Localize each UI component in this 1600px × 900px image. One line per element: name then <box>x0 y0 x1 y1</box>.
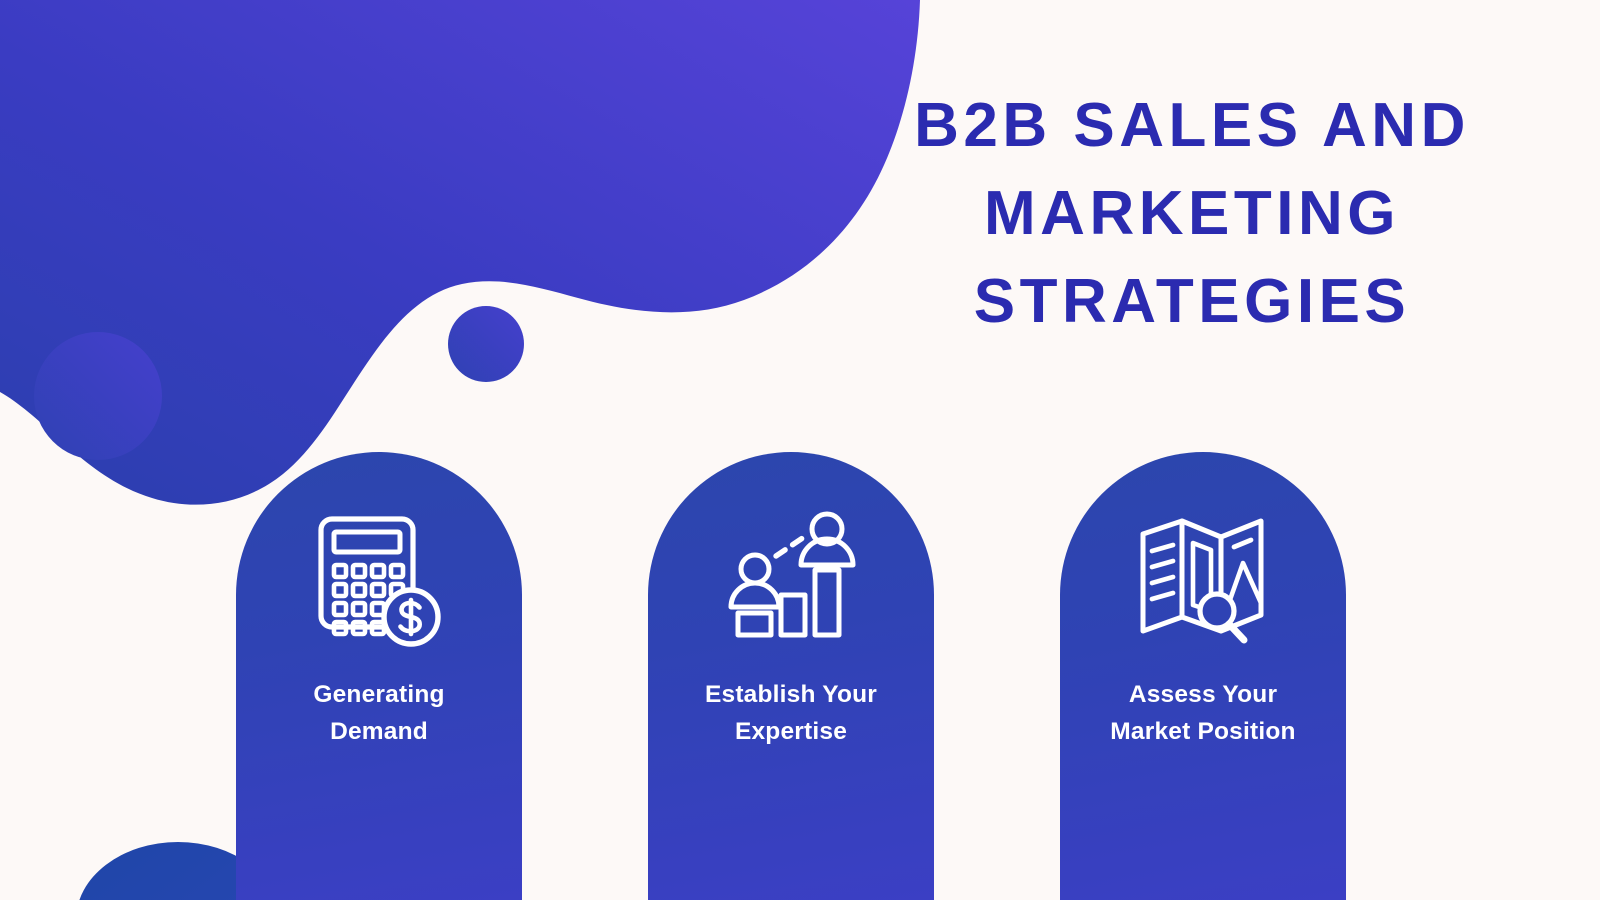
title-line-3: STRATEGIES <box>862 258 1522 346</box>
map-magnifier-icon <box>1128 504 1278 654</box>
card-label-line-2: Market Position <box>1110 718 1295 745</box>
calculator-dollar-icon <box>304 504 454 654</box>
card-label-line-1: Establish Your <box>705 681 877 708</box>
title-line-1: B2B SALES AND <box>862 82 1522 170</box>
card-label-line-1: Assess Your <box>1129 681 1277 708</box>
people-bar-chart-growth-icon <box>716 504 866 654</box>
page-title: B2B SALES AND MARKETING STRATEGIES <box>862 82 1522 346</box>
strategy-card-establish-expertise[interactable]: Establish Your Expertise <box>648 452 934 900</box>
strategy-card-list: Generating Demand <box>236 452 1346 900</box>
card-label-line-1: Generating <box>313 681 444 708</box>
strategy-card-label: Establish Your Expertise <box>666 676 916 750</box>
strategy-card-label: Assess Your Market Position <box>1078 676 1328 750</box>
strategy-card-assess-market-position[interactable]: Assess Your Market Position <box>1060 452 1346 900</box>
strategy-card-label: Generating Demand <box>254 676 504 750</box>
blob-shape <box>0 0 920 505</box>
card-label-line-2: Expertise <box>735 718 847 745</box>
card-label-line-2: Demand <box>330 718 428 745</box>
strategy-card-generating-demand[interactable]: Generating Demand <box>236 452 522 900</box>
infographic-canvas: B2B SALES AND MARKETING STRATEGIES <box>0 0 1600 900</box>
large-accent-circle <box>34 332 162 460</box>
small-accent-circle <box>448 306 524 382</box>
title-line-2: MARKETING <box>862 170 1522 258</box>
